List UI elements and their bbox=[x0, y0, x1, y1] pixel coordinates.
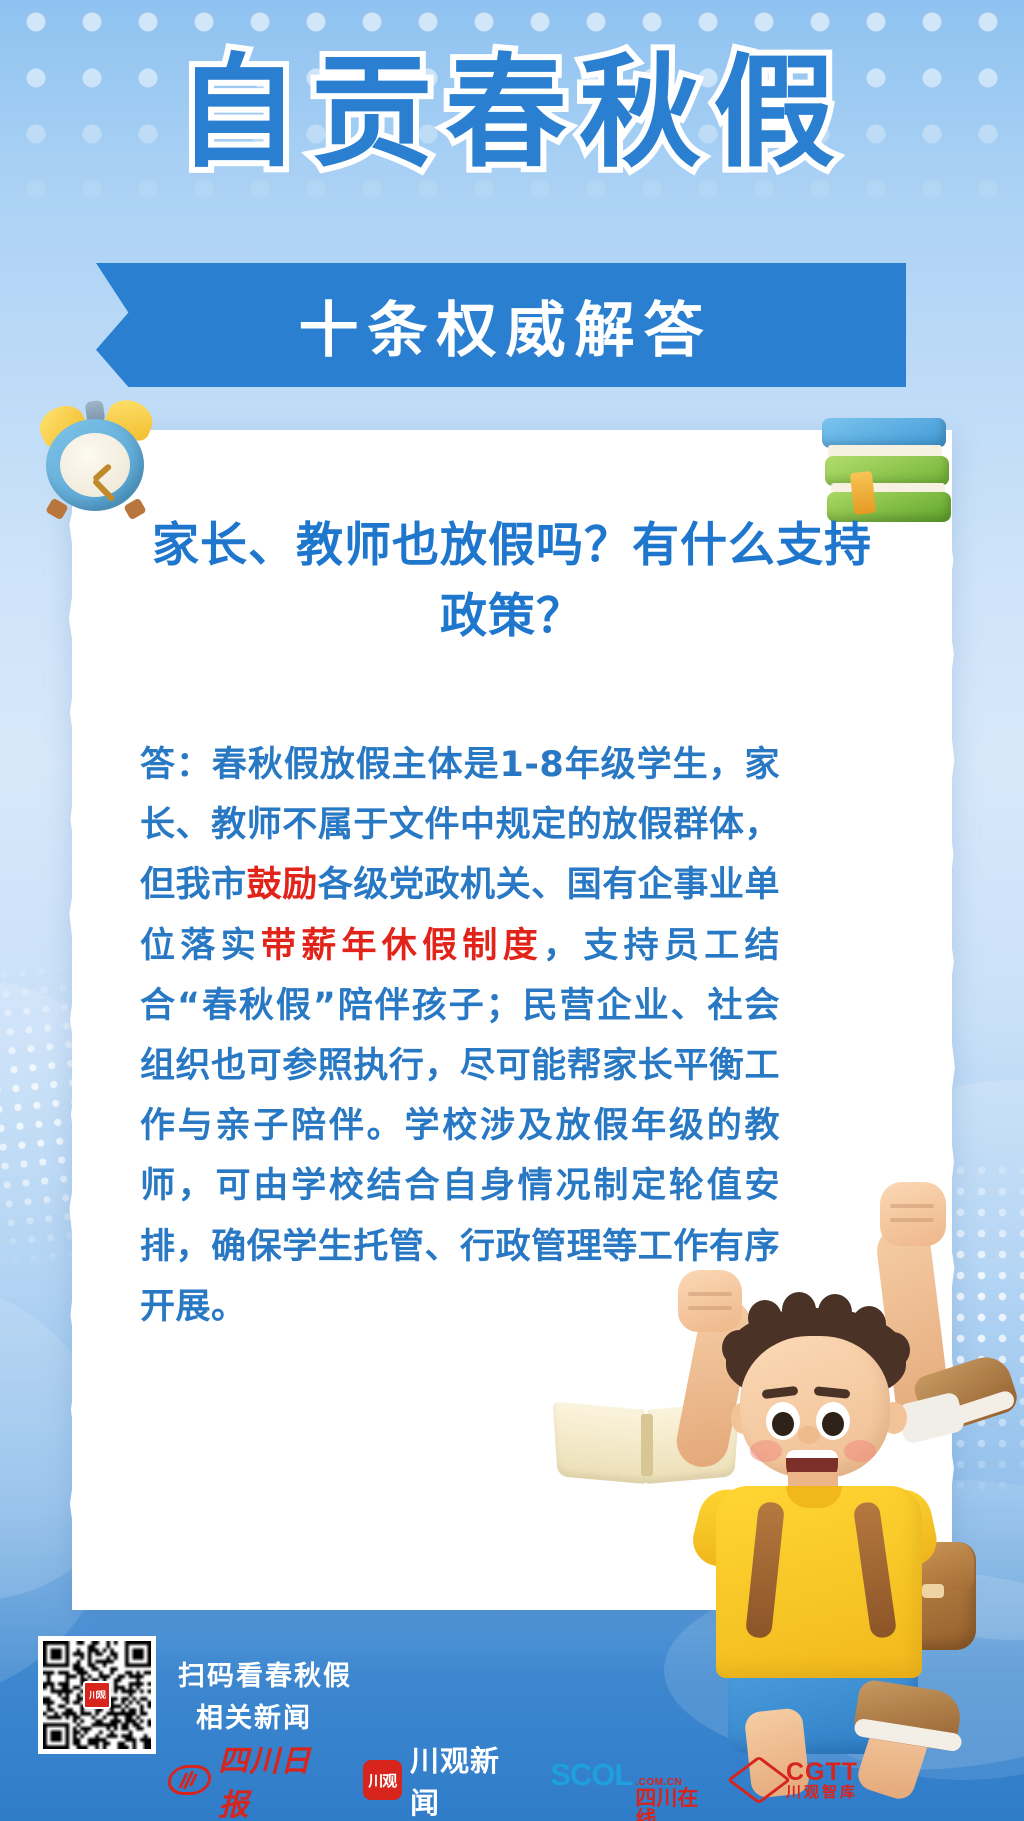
scan-prompt-line1: 扫码看春秋假 bbox=[178, 1661, 352, 1692]
logo-chuanguan-news[interactable]: 川观 川观新闻 bbox=[363, 1757, 529, 1803]
card-torn-edge-left bbox=[59, 430, 85, 1610]
alarm-clock-icon bbox=[38, 395, 154, 511]
qr-code-center-logo: 川观 bbox=[83, 1681, 111, 1709]
card-torn-edge-top bbox=[72, 428, 952, 470]
logo-chuanguan-news-label: 川观新闻 bbox=[410, 1738, 528, 1821]
ribbon-banner-label: 十条权威解答 bbox=[96, 263, 906, 387]
logo-cgtt[interactable]: CGTT 川观智库 bbox=[739, 1757, 858, 1803]
logo-scol-en: SCOL bbox=[550, 1757, 632, 1793]
cheering-student-illustration bbox=[600, 1150, 1024, 1710]
logo-scol[interactable]: SCOL .COM.CN 四川在线 bbox=[550, 1757, 717, 1803]
poster-root: 自贡春秋假 十条权威解答 家长、教师也放假吗？有什么支持政策？ bbox=[0, 0, 1024, 1821]
media-logo-strip: 四川日报 川观 川观新闻 SCOL .COM.CN 四川在线 CGTT 川观智库 bbox=[168, 1749, 858, 1811]
logo-cgtt-en: CGTT bbox=[786, 1759, 858, 1785]
cgtt-cube-icon bbox=[727, 1756, 792, 1805]
answer-highlight-1: 鼓励 bbox=[247, 865, 318, 905]
scan-prompt: 扫码看春秋假 相关新闻 bbox=[178, 1656, 352, 1740]
logo-sichuan-daily-label: 四川日报 bbox=[218, 1736, 340, 1821]
chuanguan-badge-icon: 川观 bbox=[363, 1760, 402, 1800]
logo-sichuan-daily[interactable]: 四川日报 bbox=[168, 1757, 341, 1803]
answer-highlight-2: 带薪年休假制度 bbox=[261, 926, 543, 966]
qr-code[interactable]: 川观 bbox=[38, 1636, 156, 1754]
sichuan-daily-mark-icon bbox=[165, 1765, 214, 1795]
scan-prompt-line2: 相关新闻 bbox=[178, 1698, 352, 1740]
question-heading: 家长、教师也放假吗？有什么支持政策？ bbox=[130, 510, 894, 653]
logo-scol-cn: 四川在线 bbox=[635, 1788, 717, 1821]
poster-headline: 自贡春秋假 bbox=[0, 52, 1024, 174]
logo-cgtt-cn: 川观智库 bbox=[786, 1785, 858, 1801]
